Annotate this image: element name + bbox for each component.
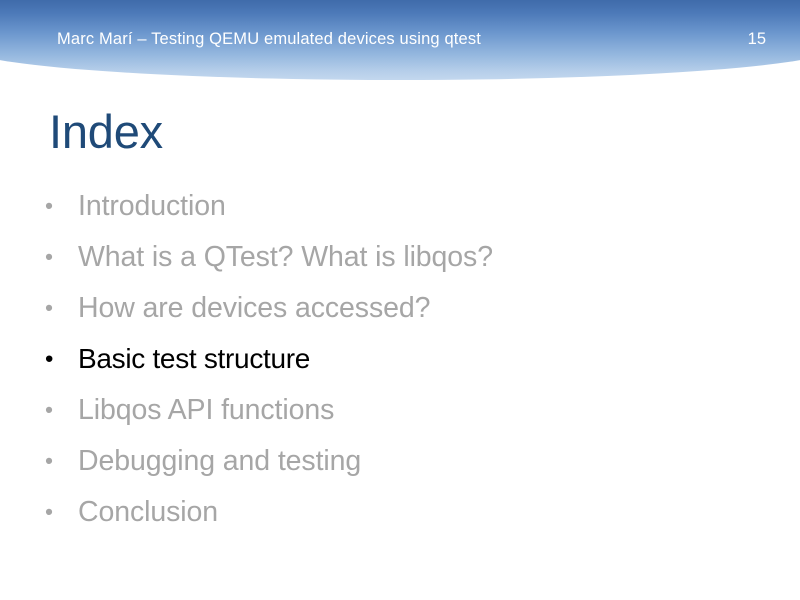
- presentation-slide: Marc Marí – Testing QEMU emulated device…: [0, 0, 800, 600]
- list-item-label: What is a QTest? What is libqos?: [78, 240, 493, 274]
- bullet-point-icon: •: [45, 194, 63, 217]
- slide-page-number: 15: [600, 30, 766, 49]
- list-item-label: Libqos API functions: [78, 393, 334, 427]
- bullet-point-icon: •: [45, 245, 63, 268]
- header-presentation-title: Marc Marí – Testing QEMU emulated device…: [57, 30, 481, 49]
- list-item-label: How are devices accessed?: [78, 291, 430, 325]
- list-item[interactable]: •Libqos API functions: [40, 384, 760, 435]
- list-item[interactable]: •Conclusion: [40, 486, 760, 537]
- list-item-label: Conclusion: [78, 495, 218, 529]
- list-item[interactable]: •What is a QTest? What is libqos?: [40, 231, 760, 282]
- list-item-label: Basic test structure: [78, 342, 310, 376]
- list-item[interactable]: •Basic test structure: [40, 333, 760, 384]
- list-item-label: Debugging and testing: [78, 444, 361, 478]
- list-item-label: Introduction: [78, 189, 226, 223]
- bullet-point-icon: •: [45, 347, 63, 370]
- slide-header-banner: Marc Marí – Testing QEMU emulated device…: [0, 0, 800, 84]
- list-item[interactable]: •How are devices accessed?: [40, 282, 760, 333]
- bullet-point-icon: •: [45, 398, 63, 421]
- list-item[interactable]: •Introduction: [40, 180, 760, 231]
- list-item[interactable]: •Debugging and testing: [40, 435, 760, 486]
- bullet-point-icon: •: [45, 500, 63, 523]
- bullet-point-icon: •: [45, 449, 63, 472]
- bullet-point-icon: •: [45, 296, 63, 319]
- page-title: Index: [49, 104, 163, 160]
- index-bullet-list: •Introduction•What is a QTest? What is l…: [40, 180, 760, 537]
